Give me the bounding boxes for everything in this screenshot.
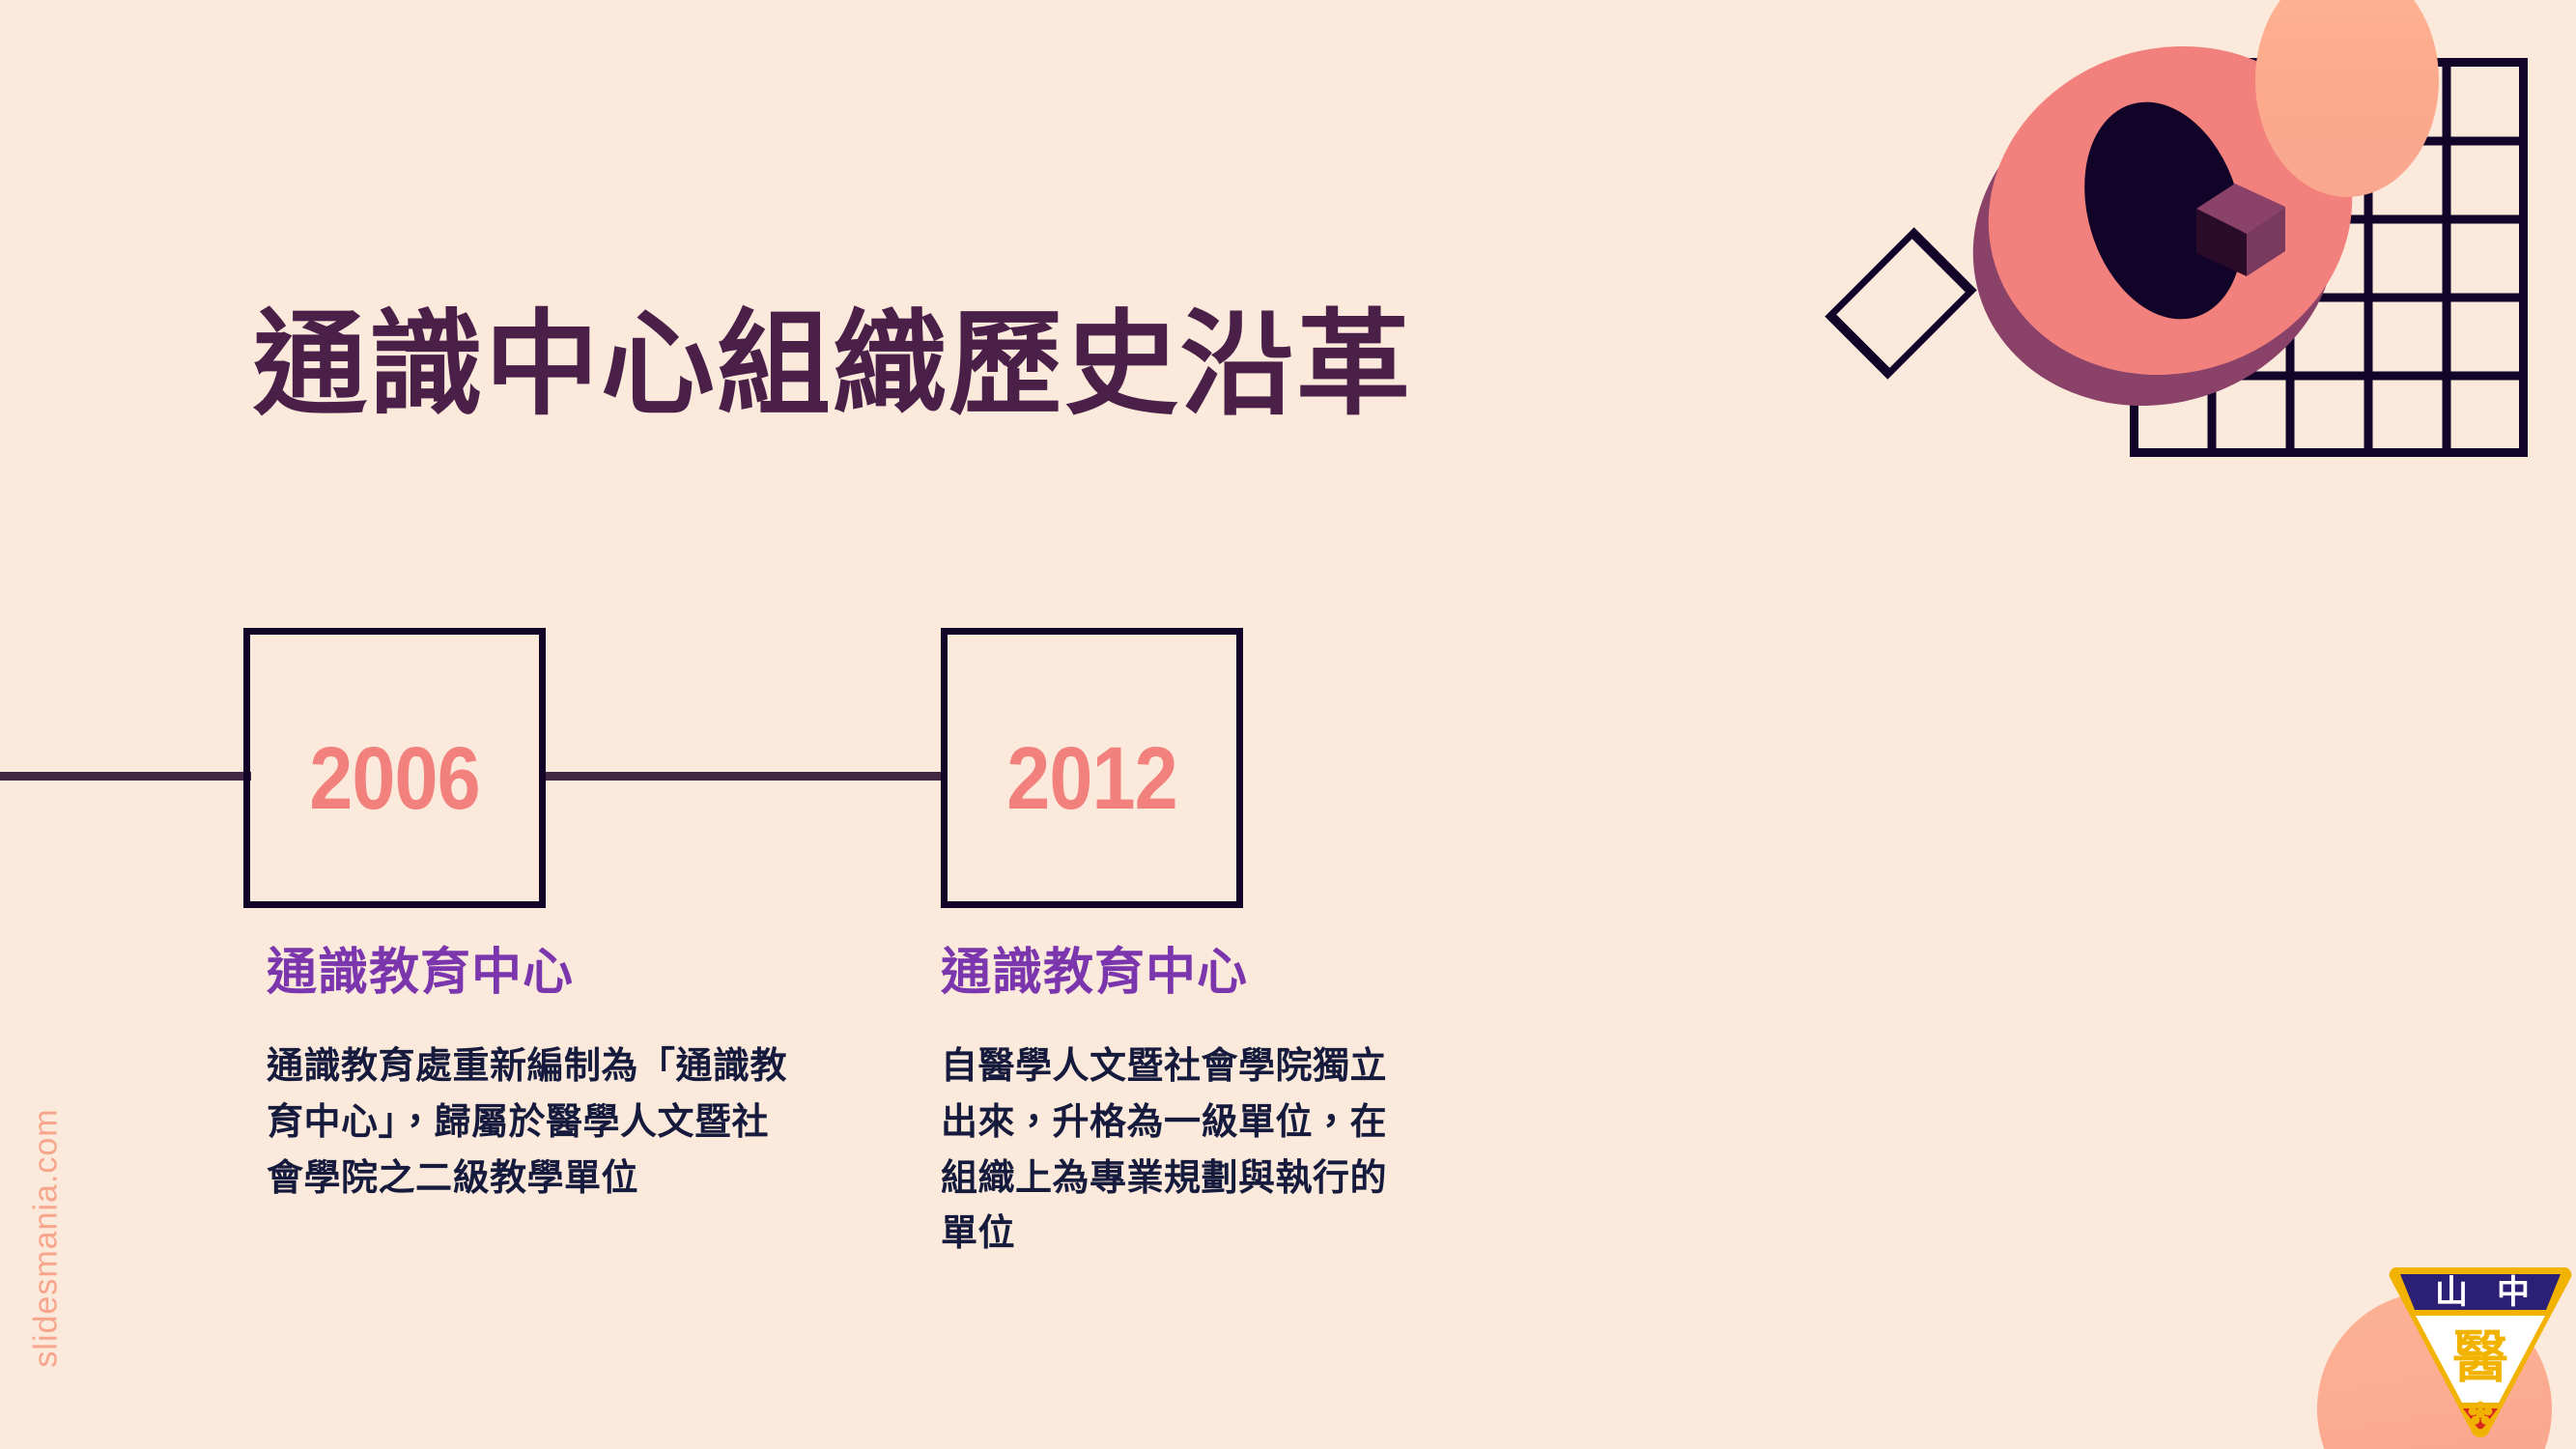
logo-top-char-right: 中 bbox=[2497, 1274, 2530, 1311]
university-logo: 山 中 醫 bbox=[2386, 1256, 2575, 1445]
timeline-entry-2006: 通識教育中心 通識教育處重新編制為「通識教育中心」，歸屬於醫學人文暨社會學院之二… bbox=[267, 942, 807, 1207]
logo-top-char-left: 山 bbox=[2435, 1274, 2468, 1311]
timeline-entry-2012: 通識教育中心 自醫學人文暨社會學院獨立出來，升格為一級單位，在組織上為專業規劃與… bbox=[941, 942, 1443, 1263]
entry-heading-2006: 通識教育中心 bbox=[267, 942, 807, 1005]
slide-canvas: 通識中心組織歷史沿革 2006 2012 通識教育中心 通識教育處重新編制為「通… bbox=[0, 0, 2576, 1449]
cube-3d-decoration bbox=[2194, 182, 2287, 278]
logo-middle-char: 醫 bbox=[2452, 1326, 2508, 1389]
slidesmania-watermark[interactable]: slidesmania.com bbox=[28, 1103, 66, 1374]
year-label-2012: 2012 bbox=[959, 728, 1225, 830]
timeline-connector-left bbox=[0, 772, 251, 781]
page-title: 通識中心組織歷史沿革 bbox=[253, 297, 1702, 436]
entry-body-2012: 自醫學人文暨社會學院獨立出來，升格為一級單位，在組織上為專業規劃與執行的單位 bbox=[941, 1039, 1424, 1263]
timeline-connector-middle bbox=[541, 772, 947, 781]
year-label-2006: 2006 bbox=[262, 728, 527, 830]
diamond-outline-decoration bbox=[1825, 227, 1976, 379]
entry-heading-2012: 通識教育中心 bbox=[941, 942, 1443, 1005]
entry-body-2006: 通識教育處重新編制為「通識教育中心」，歸屬於醫學人文暨社會學院之二級教學單位 bbox=[267, 1039, 793, 1207]
